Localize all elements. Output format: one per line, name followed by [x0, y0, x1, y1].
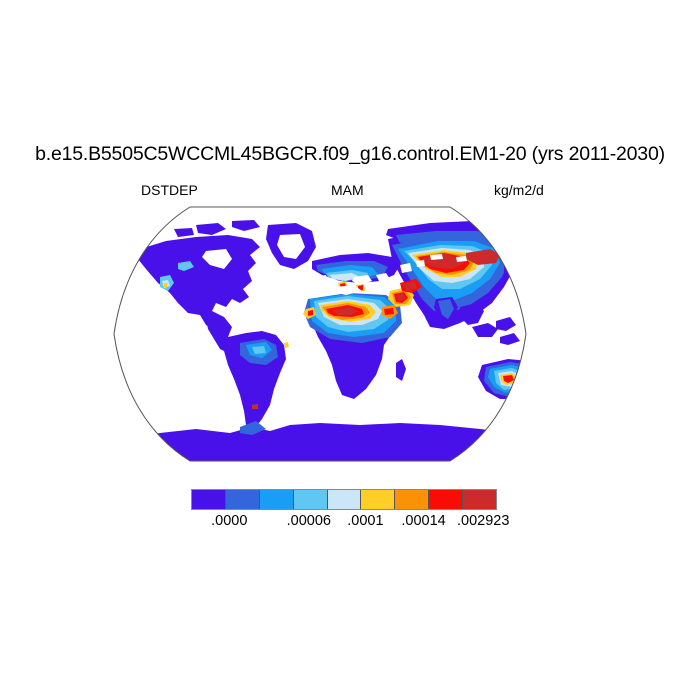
- colorbar-swatch-9: [463, 490, 496, 509]
- colorbar-swatch-1: [192, 490, 226, 509]
- colorbar-swatch-5: [328, 490, 362, 509]
- colorbar-swatch-2: [226, 490, 260, 509]
- colorbar-swatch-7: [395, 490, 429, 509]
- colorbar-swatch-3: [260, 490, 294, 509]
- colorbar-swatches: [191, 489, 497, 510]
- climate-map-figure: b.e15.B5505C5WCCML45BGCR.f09_g16.control…: [0, 0, 700, 700]
- colorbar-tick-label-2: .00006: [287, 513, 331, 529]
- world-map: [100, 203, 540, 465]
- colorbar-labels: .0000.00006.0001.00014.002923: [150, 513, 550, 533]
- variable-label: DSTDEP: [141, 182, 198, 198]
- colorbar-tick-label-5: .002923: [457, 513, 509, 529]
- colorbar-tick-label-3: .0001: [347, 513, 383, 529]
- season-label: MAM: [331, 182, 364, 198]
- map-svg: [100, 203, 540, 465]
- colorbar-tick-label-1: .0000: [211, 513, 247, 529]
- colorbar-tick-label-4: .00014: [401, 513, 445, 529]
- colorbar-swatch-8: [429, 490, 463, 509]
- colorbar: [191, 489, 497, 510]
- colorbar-swatch-6: [361, 490, 395, 509]
- units-label: kg/m2/d: [494, 182, 544, 198]
- colorbar-swatch-4: [294, 490, 328, 509]
- page-title: b.e15.B5505C5WCCML45BGCR.f09_g16.control…: [0, 143, 700, 166]
- map-data-layer: [100, 203, 540, 465]
